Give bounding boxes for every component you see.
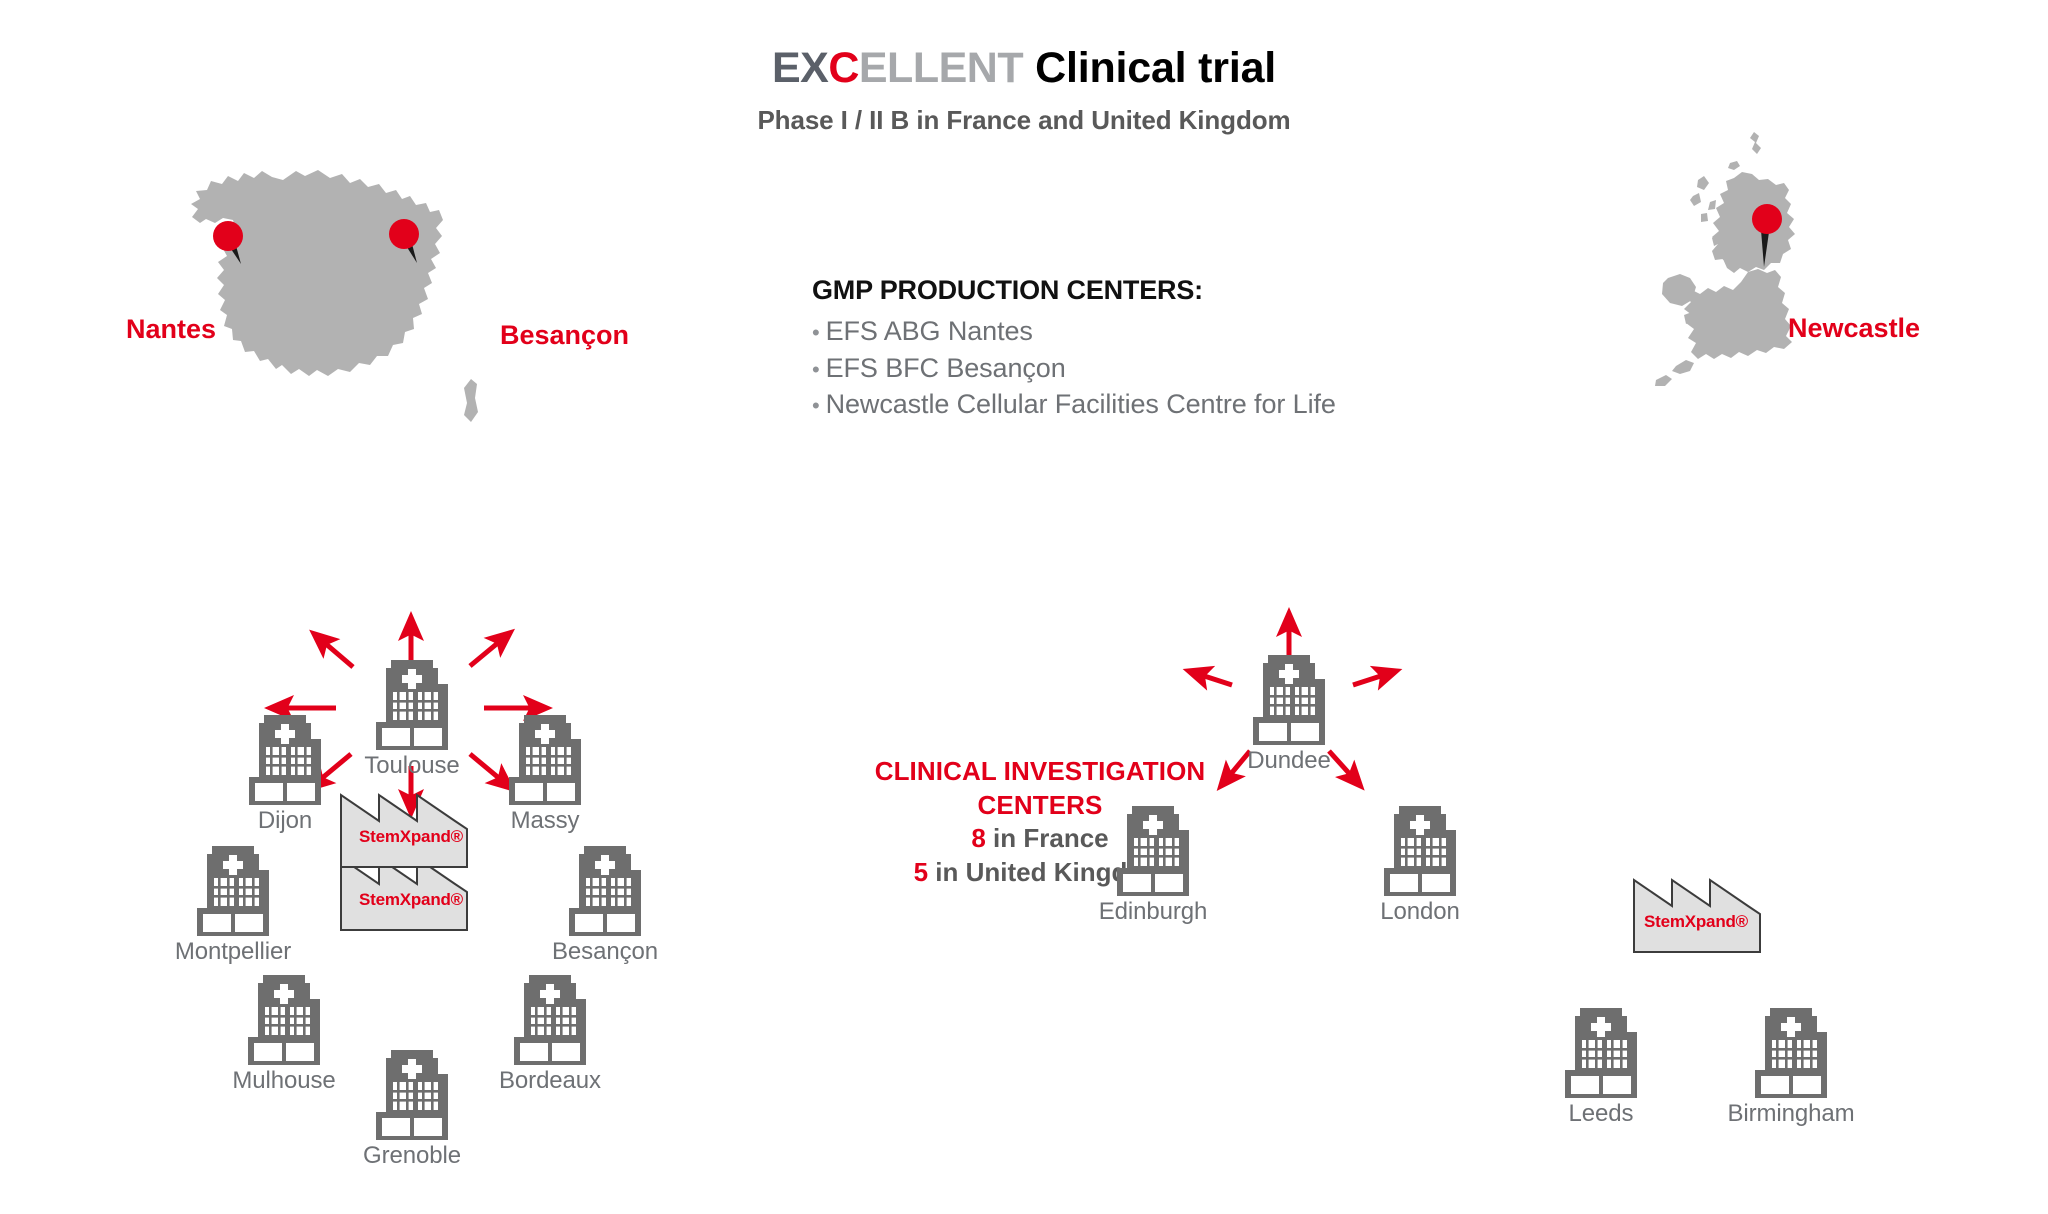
title-clinical-trial: Clinical trial [1035,44,1276,92]
cic-france-number: 8 [971,823,985,853]
center-node-massy[interactable]: Massy [496,715,594,835]
gmp-list-item: •Newcastle Cellular Facilities Centre fo… [812,386,1492,423]
center-node-toulouse[interactable]: Toulouse [363,660,461,780]
page-header: EXCELLENTClinical trial Phase I / II B i… [0,46,2048,136]
hospital-icon [376,660,448,750]
factory-icon [339,777,483,869]
center-label: Grenoble [356,1142,468,1170]
center-label: Massy [496,807,594,835]
hospital-icon [1565,1008,1637,1098]
hospital-icon [1253,655,1325,745]
map-label-nantes: Nantes [126,314,216,345]
bullet-icon: • [812,320,820,345]
map-label-newcastle: Newcastle [1788,313,1920,344]
center-label: Besançon [540,938,670,966]
center-label: Montpellier [168,938,298,966]
center-node-birmingham[interactable]: Birmingham [1721,1008,1861,1128]
hospital-icon [1117,806,1189,896]
hospital-icon [1755,1008,1827,1098]
center-node-montpellier[interactable]: Montpellier [168,846,298,966]
center-label: Bordeaux [490,1067,610,1095]
center-node-mulhouse[interactable]: Mulhouse [224,975,344,1095]
arrow-to-edinburgh [1195,673,1232,685]
gmp-item-label: EFS BFC Besançon [826,353,1066,383]
bullet-icon: • [812,393,820,418]
arrow-to-london [1353,673,1390,685]
factory-node-uk-0[interactable]: StemXpand® [1632,862,1776,954]
center-node-london[interactable]: London [1365,806,1475,926]
center-node-bordeaux[interactable]: Bordeaux [490,975,610,1095]
hospital-icon [197,846,269,936]
gmp-list-item: •EFS BFC Besançon [812,350,1492,387]
map-label-besancon: Besançon [500,320,629,351]
arrow-to-dijon [319,638,353,667]
factory-node-france-0[interactable]: StemXpand® [339,777,483,869]
center-label: London [1365,898,1475,926]
factory-icon [1632,862,1776,954]
hospital-icon [514,975,586,1065]
center-node-dundee[interactable]: Dundee [1241,655,1337,775]
uk-map-shape [1655,132,1795,386]
hospital-icon [1384,806,1456,896]
brand-text-ex: EX [772,44,828,92]
center-label: Edinburgh [1088,898,1218,926]
uk-map [1628,130,1858,420]
brand-text-c: C [828,44,859,92]
center-node-edinburgh[interactable]: Edinburgh [1088,806,1218,926]
center-label: Dundee [1241,747,1337,775]
gmp-item-label: EFS ABG Nantes [826,316,1033,346]
center-label: Toulouse [363,752,461,780]
page-title: EXCELLENTClinical trial [0,46,2048,91]
hospital-icon [509,715,581,805]
cic-title-line1: CLINICAL INVESTIGATION [820,755,1260,789]
arrow-to-massy [470,637,505,666]
brand-text-ellent: ELLENT [859,44,1023,92]
center-label: Leeds [1553,1100,1649,1128]
gmp-item-label: Newcastle Cellular Facilities Centre for… [826,389,1336,419]
hospital-icon [248,975,320,1065]
center-node-besancon[interactable]: Besançon [540,846,670,966]
gmp-list-item: •EFS ABG Nantes [812,313,1492,350]
center-label: Mulhouse [224,1067,344,1095]
center-label: Birmingham [1721,1100,1861,1128]
cic-uk-number: 5 [914,857,928,887]
center-node-dijon[interactable]: Dijon [236,715,334,835]
hospital-icon [249,715,321,805]
center-node-grenoble[interactable]: Grenoble [356,1050,468,1170]
france-map [178,160,508,430]
center-label: Dijon [236,807,334,835]
france-map-shape [191,170,478,422]
hospital-icon [376,1050,448,1140]
bullet-icon: • [812,357,820,382]
gmp-production-centers-block: GMP PRODUCTION CENTERS: •EFS ABG Nantes … [812,275,1492,423]
center-node-leeds[interactable]: Leeds [1553,1008,1649,1128]
hospital-icon [569,846,641,936]
gmp-heading: GMP PRODUCTION CENTERS: [812,275,1492,306]
